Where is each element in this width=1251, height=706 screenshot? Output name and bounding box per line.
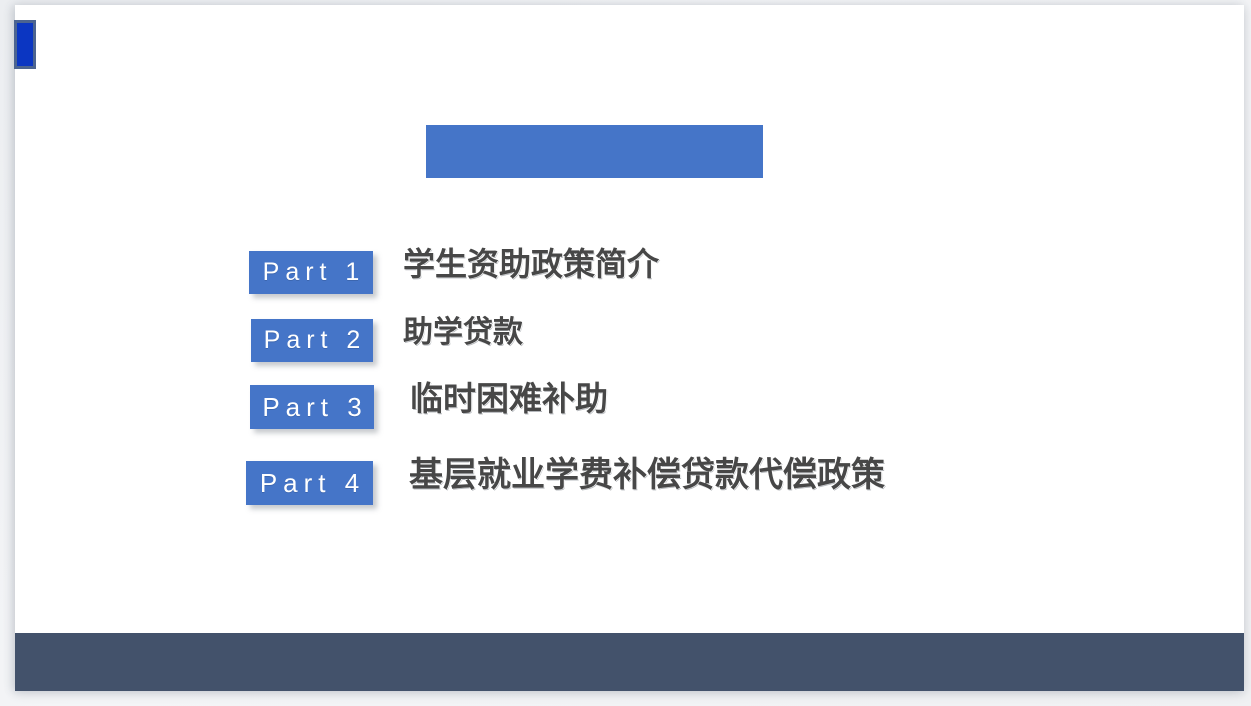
table-of-contents-list: Part 1 学生资助政策简介 Part 2 助学贷款 Part 3 临时困难补… <box>15 246 1244 518</box>
toc-entry-part-2[interactable]: Part 2 助学贷款 <box>15 314 1244 382</box>
part-chip-label-3: Part 3 <box>256 394 367 420</box>
part-chip-3[interactable]: Part 3 <box>250 385 374 429</box>
toc-entry-part-1[interactable]: Part 1 学生资助政策简介 <box>15 246 1244 314</box>
toc-entry-part-3[interactable]: Part 3 临时困难补助 <box>15 382 1244 450</box>
part-chip-4[interactable]: Part 4 <box>246 461 373 505</box>
slide-viewport: 目 录 Part 1 学生资助政策简介 Part 2 助学贷款 Part 3 <box>0 0 1251 706</box>
blue-corner-accent-icon <box>14 20 36 69</box>
part-chip-label-2: Part 2 <box>258 328 367 353</box>
slide-card: 目 录 Part 1 学生资助政策简介 Part 2 助学贷款 Part 3 <box>15 5 1244 691</box>
toc-entry-part-4[interactable]: Part 4 基层就业学费补偿贷款代偿政策 <box>15 450 1244 518</box>
table-of-contents-title: 目 录 <box>295 134 893 169</box>
table-of-contents-banner: 目 录 <box>426 125 763 178</box>
toc-entry-title-4: 基层就业学费补偿贷款代偿政策 <box>409 458 885 492</box>
part-chip-1[interactable]: Part 1 <box>249 251 373 294</box>
toc-entry-title-3: 临时困难补助 <box>410 382 608 415</box>
toc-entry-title-1: 学生资助政策简介 <box>403 248 659 280</box>
part-chip-label-4: Part 4 <box>254 470 365 496</box>
part-chip-label-1: Part 1 <box>257 260 366 285</box>
footer-band <box>15 633 1244 691</box>
part-chip-2[interactable]: Part 2 <box>251 319 373 362</box>
toc-entry-title-2: 助学贷款 <box>403 318 523 348</box>
